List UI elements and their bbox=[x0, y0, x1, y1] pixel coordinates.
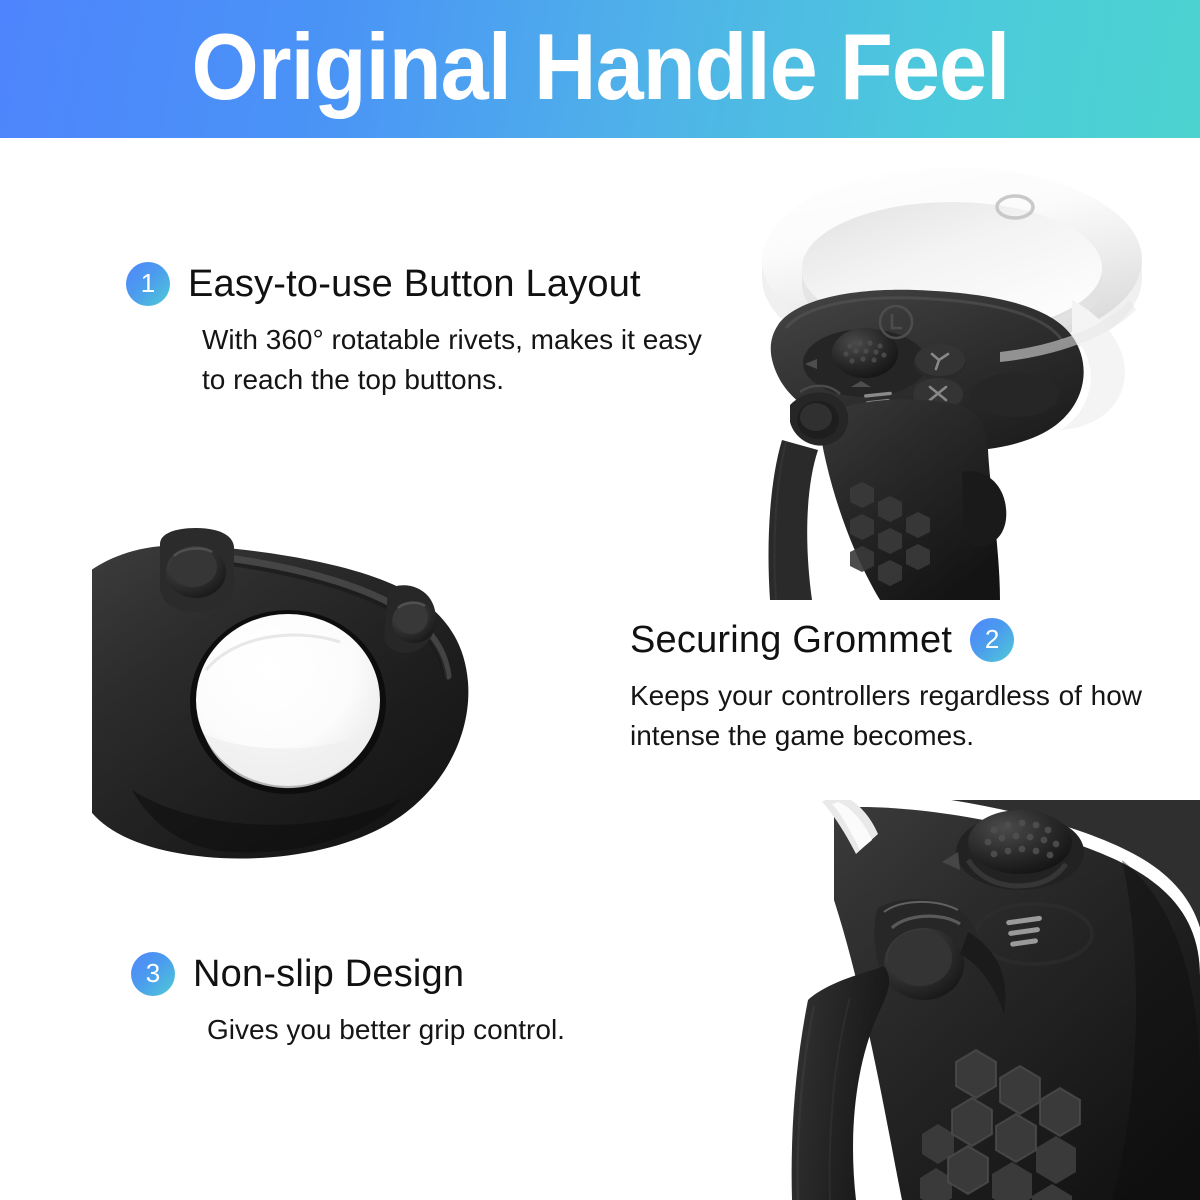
feature-block-1: 1 Easy-to-use Button Layout With 360° ro… bbox=[126, 262, 726, 400]
feature-3-heading: 3 Non-slip Design bbox=[131, 952, 691, 996]
feature-1-body: With 360° rotatable rivets, makes it eas… bbox=[202, 320, 702, 400]
menu-button-icon bbox=[1006, 916, 1042, 947]
feature-2-body: Keeps your controllers regardless of how… bbox=[630, 676, 1142, 756]
feature-2-number-badge: 2 bbox=[970, 618, 1014, 662]
grommet-stud-left bbox=[160, 528, 234, 612]
feature-1-heading: 1 Easy-to-use Button Layout bbox=[126, 262, 726, 306]
header-banner: Original Handle Feel bbox=[0, 0, 1200, 138]
cover-opening bbox=[190, 610, 386, 794]
page-title: Original Handle Feel bbox=[191, 17, 1009, 121]
feature-1-title: Easy-to-use Button Layout bbox=[188, 262, 641, 306]
button-y bbox=[914, 344, 966, 380]
feature-1-number-badge: 1 bbox=[126, 262, 170, 306]
feature-block-2: Securing Grommet 2 Keeps your controller… bbox=[630, 618, 1150, 756]
feature-3-title: Non-slip Design bbox=[193, 952, 464, 996]
vr-controller-illustration bbox=[700, 150, 1200, 600]
feature-2-title: Securing Grommet bbox=[630, 618, 952, 662]
product-feature-infographic: Original Handle Feel 1 Easy-to-use Butto… bbox=[0, 0, 1200, 1200]
photo-grommet-closeup bbox=[92, 522, 490, 860]
feature-block-3: 3 Non-slip Design Gives you better grip … bbox=[131, 952, 691, 1050]
nonslip-grip-illustration bbox=[782, 800, 1200, 1200]
photo-vr-controller-top bbox=[700, 150, 1200, 600]
feature-3-body: Gives you better grip control. bbox=[207, 1010, 627, 1050]
grommet-closeup-illustration bbox=[92, 522, 490, 860]
feature-3-number-badge: 3 bbox=[131, 952, 175, 996]
feature-2-heading: Securing Grommet 2 bbox=[630, 618, 1150, 662]
photo-nonslip-grip bbox=[782, 800, 1200, 1200]
